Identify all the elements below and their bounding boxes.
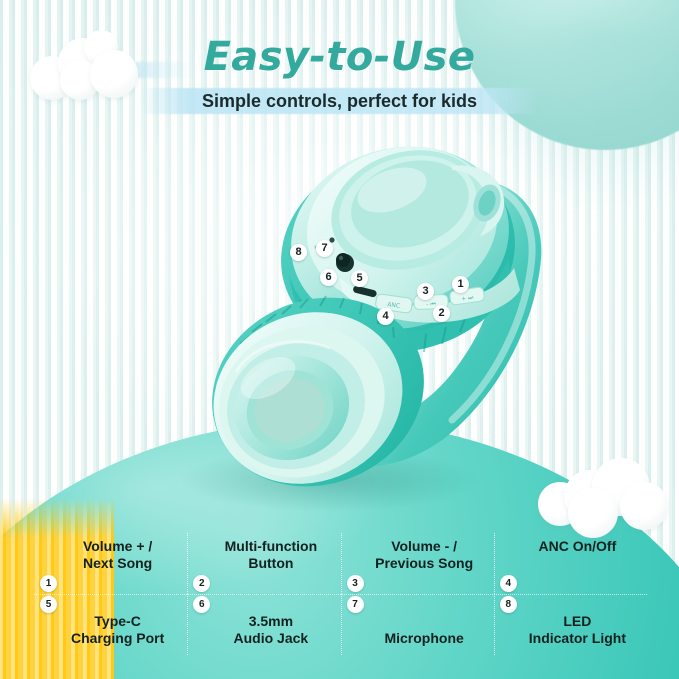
- legend-label-8: LED Indicator Light: [512, 613, 643, 647]
- subtitle-wrapper: Simple controls, perfect for kids: [0, 86, 679, 116]
- legend-number-8: 8: [500, 596, 517, 613]
- legend-number-1: 1: [40, 575, 57, 592]
- product-marker-4[interactable]: 4: [377, 308, 394, 325]
- legend-number-3: 3: [347, 575, 364, 592]
- cloud-icon-bottom-right: [538, 458, 678, 540]
- legend-number-6: 6: [193, 596, 210, 613]
- product-marker-1[interactable]: 1: [452, 276, 469, 293]
- product-marker-6[interactable]: 6: [320, 269, 337, 286]
- legend-cell-7[interactable]: 7 Microphone: [341, 594, 494, 655]
- product-marker-3[interactable]: 3: [417, 283, 434, 300]
- legend-number-4: 4: [500, 575, 517, 592]
- legend-label-1: Volume + / Next Song: [52, 538, 183, 572]
- legend-label-2: Multi-function Button: [205, 538, 336, 572]
- legend-divider: [494, 533, 495, 594]
- legend-label-6: 3.5mm Audio Jack: [205, 613, 336, 647]
- page-title: Easy-to-Use: [0, 34, 679, 80]
- legend-cell-6[interactable]: 6 3.5mm Audio Jack: [187, 594, 340, 655]
- legend-label-3: Volume - / Previous Song: [359, 538, 490, 572]
- product-marker-5[interactable]: 5: [351, 270, 368, 287]
- legend-cell-2[interactable]: Multi-function Button 2: [187, 533, 340, 594]
- product-marker-8[interactable]: 8: [290, 244, 307, 261]
- legend-number-2: 2: [193, 575, 210, 592]
- product-infographic: Easy-to-Use Simple controls, perfect for…: [0, 0, 679, 679]
- legend-number-7: 7: [347, 596, 364, 613]
- legend-cell-1[interactable]: Volume + / Next Song 1: [34, 533, 187, 594]
- legend-cell-5[interactable]: 5 Type-C Charging Port: [34, 594, 187, 655]
- legend-cell-4[interactable]: ANC On/Off 4: [494, 533, 647, 594]
- page-subtitle: Simple controls, perfect for kids: [0, 86, 679, 116]
- legend-label-4: ANC On/Off: [512, 538, 643, 555]
- legend-divider: [341, 594, 342, 655]
- legend-label-5: Type-C Charging Port: [52, 613, 183, 647]
- legend-label-7: Microphone: [359, 630, 490, 647]
- legend-cell-8[interactable]: 8 LED Indicator Light: [494, 594, 647, 655]
- feature-legend: Volume + / Next Song 1 Multi-function Bu…: [34, 533, 647, 655]
- legend-cell-3[interactable]: Volume - / Previous Song 3: [341, 533, 494, 594]
- legend-number-5: 5: [40, 596, 57, 613]
- legend-divider: [341, 533, 342, 594]
- legend-divider: [494, 594, 495, 655]
- legend-divider: [187, 533, 188, 594]
- product-marker-7[interactable]: 7: [316, 240, 333, 257]
- legend-divider: [187, 594, 188, 655]
- product-marker-2[interactable]: 2: [433, 305, 450, 322]
